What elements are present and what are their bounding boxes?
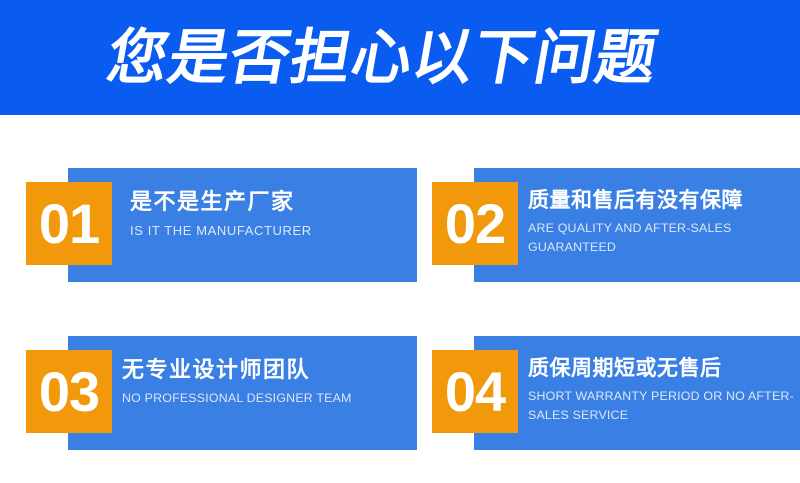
concern-card-02[interactable]: 02 质量和售后有没有保障 ARE QUALITY AND AFTER-SALE… [432, 168, 800, 298]
card-title: 无专业设计师团队 [122, 356, 410, 384]
page-title: 您是否担心以下问题 [103, 28, 663, 88]
card-subtitle: SHORT WARRANTY PERIOD OR NO AFTER-SALES … [528, 387, 800, 425]
card-number-badge: 01 [26, 182, 112, 265]
card-number-label: 04 [445, 364, 505, 420]
card-text-block: 无专业设计师团队 NO PROFESSIONAL DESIGNER TEAM [122, 356, 410, 408]
concern-card-03[interactable]: 03 无专业设计师团队 NO PROFESSIONAL DESIGNER TEA… [26, 336, 433, 466]
card-number-label: 02 [445, 196, 505, 252]
concern-card-04[interactable]: 04 质保周期短或无售后 SHORT WARRANTY PERIOD OR NO… [432, 336, 800, 466]
card-number-label: 01 [39, 196, 99, 252]
concern-card-01[interactable]: 01 是不是生产厂家 IS IT THE MANUFACTURER [26, 168, 433, 298]
card-title: 是不是生产厂家 [130, 188, 418, 216]
card-title: 质保周期短或无售后 [528, 356, 800, 382]
card-text-block: 质保周期短或无售后 SHORT WARRANTY PERIOD OR NO AF… [528, 356, 800, 426]
card-number-label: 03 [39, 364, 99, 420]
card-title: 质量和售后有没有保障 [528, 188, 800, 214]
card-number-badge: 02 [432, 182, 518, 265]
card-subtitle: NO PROFESSIONAL DESIGNER TEAM [122, 389, 410, 408]
card-subtitle: IS IT THE MANUFACTURER [130, 221, 418, 241]
card-text-block: 质量和售后有没有保障 ARE QUALITY AND AFTER-SALES G… [528, 188, 800, 258]
card-number-badge: 04 [432, 350, 518, 433]
card-subtitle: ARE QUALITY AND AFTER-SALES GUARANTEED [528, 219, 800, 257]
card-number-badge: 03 [26, 350, 112, 433]
header-banner: 您是否担心以下问题 [0, 0, 800, 115]
concerns-card-grid: 01 是不是生产厂家 IS IT THE MANUFACTURER 02 质量和… [0, 115, 800, 483]
card-text-block: 是不是生产厂家 IS IT THE MANUFACTURER [130, 188, 418, 241]
